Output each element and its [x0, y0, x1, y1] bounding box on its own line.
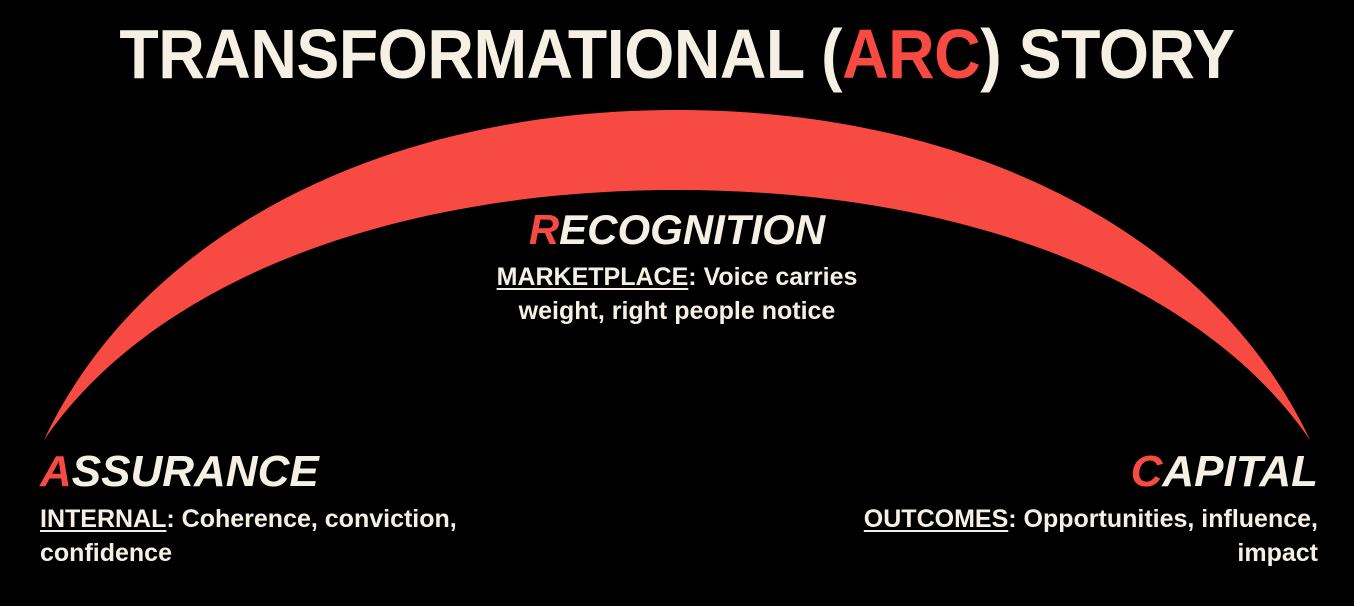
stage-assurance-rest: SSURANCE — [72, 447, 319, 496]
stage-assurance-tag: INTERNAL — [40, 505, 166, 533]
stage-capital-description: Opportunities, influence, impact — [1024, 505, 1318, 567]
stage-capital: CAPITAL OUTCOMES: Opportunities, influen… — [840, 448, 1318, 570]
page-title-accent: ARC — [842, 15, 980, 93]
stage-recognition: RECOGNITION MARKETPLACE: Voice carries w… — [477, 208, 877, 328]
stage-capital-tag: OUTCOMES — [864, 505, 1008, 533]
stage-capital-initial: C — [1131, 447, 1163, 496]
stage-assurance-initial: A — [40, 447, 72, 496]
page-title: TRANSFORMATIONAL (ARC) STORY — [54, 12, 1300, 96]
stage-assurance-title: ASSURANCE — [40, 448, 510, 496]
stage-recognition-title: RECOGNITION — [477, 208, 877, 252]
stage-capital-body: OUTCOMES: Opportunities, influence, impa… — [840, 502, 1318, 570]
stage-assurance-body: INTERNAL: Coherence, conviction, confide… — [40, 502, 510, 570]
stage-recognition-body: MARKETPLACE: Voice carries weight, right… — [477, 260, 877, 328]
stage-capital-title: CAPITAL — [840, 448, 1318, 496]
stage-recognition-rest: ECOGNITION — [559, 206, 825, 253]
stage-recognition-separator: : — [688, 263, 703, 291]
stage-capital-separator: : — [1008, 505, 1023, 533]
stage-recognition-tag: MARKETPLACE — [497, 263, 689, 291]
stage-recognition-initial: R — [529, 206, 559, 253]
stage-capital-rest: APITAL — [1162, 447, 1318, 496]
slide-canvas: TRANSFORMATIONAL (ARC) STORY RECOGNITION… — [0, 0, 1354, 606]
stage-assurance: ASSURANCE INTERNAL: Coherence, convictio… — [40, 448, 510, 570]
stage-assurance-separator: : — [166, 505, 181, 533]
page-title-prefix: TRANSFORMATIONAL ( — [119, 15, 842, 93]
page-title-suffix: ) STORY — [980, 15, 1234, 93]
